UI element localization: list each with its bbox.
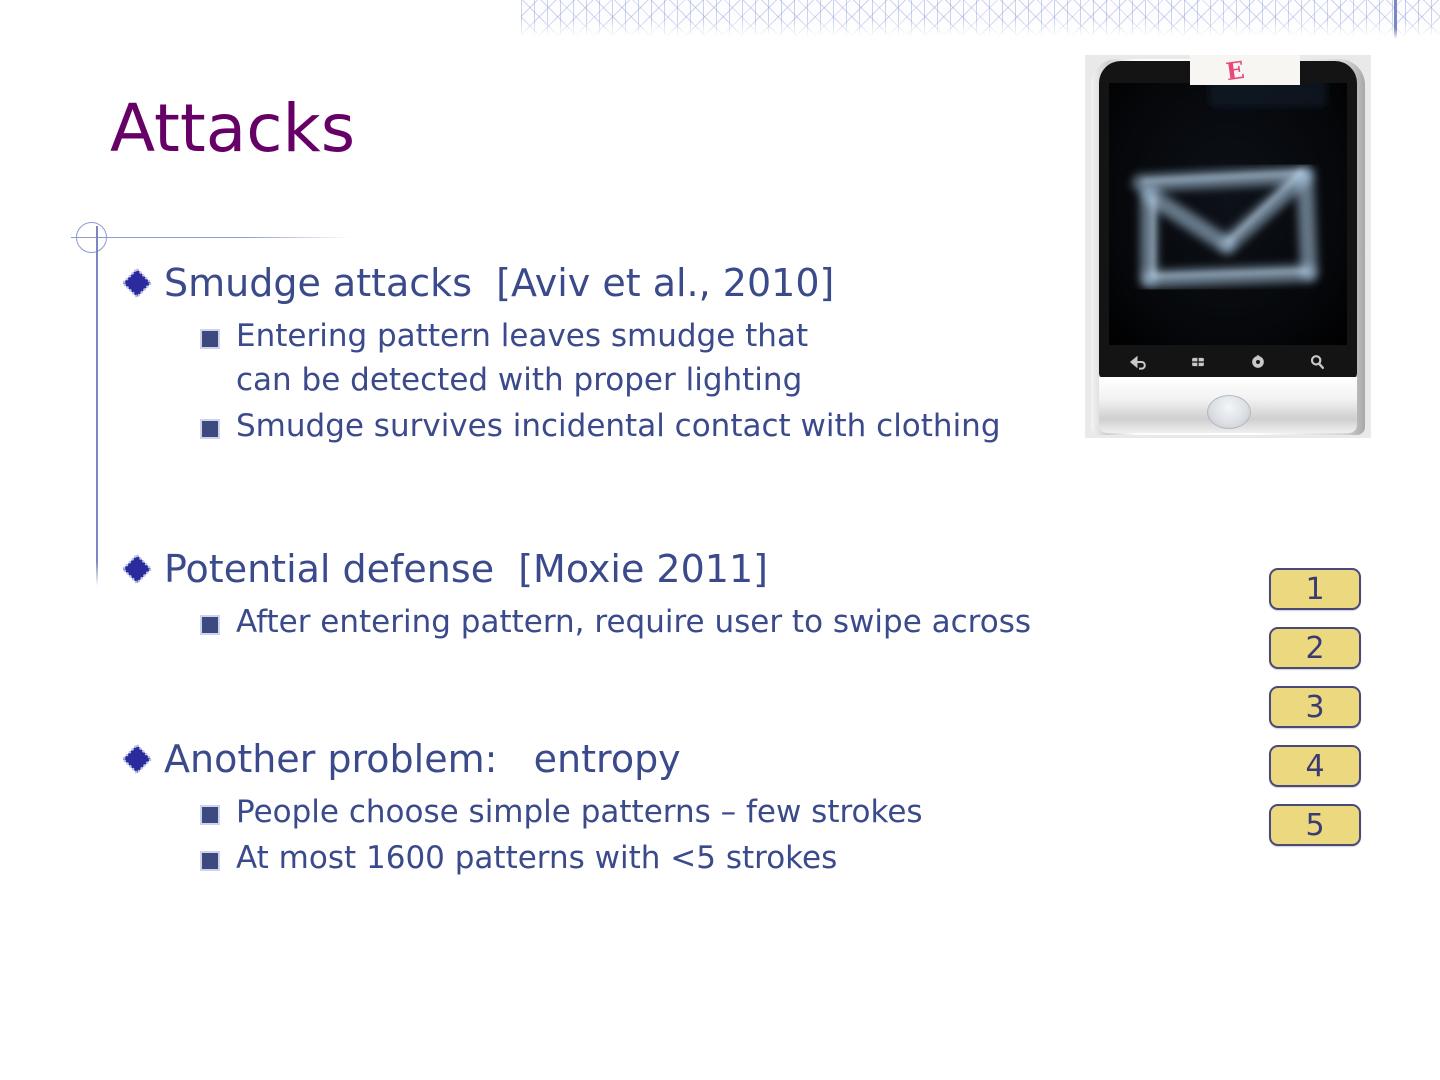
numbered-box[interactable]: 1 [1269, 568, 1361, 610]
square-bullet-icon [200, 851, 220, 871]
bullet-level2: At most 1600 patterns with <5 strokes [200, 836, 1302, 880]
top-band-accent-tick [1394, 0, 1397, 39]
bullet-level2: Entering pattern leaves smudge that can … [200, 314, 1302, 402]
square-bullet-icon [200, 329, 220, 349]
page-title: Attacks [110, 96, 355, 162]
top-hatch-band-fade [521, 0, 1440, 36]
slide-body: Smudge attacks [Aviv et al., 2010] Enter… [122, 258, 1302, 882]
bullet-level1: Another problem: entropy [122, 734, 1302, 784]
numbered-box[interactable]: 4 [1269, 745, 1361, 787]
bullet-group-smudge-attacks: Smudge attacks [Aviv et al., 2010] Enter… [122, 258, 1302, 448]
diamond-bullet-icon [122, 268, 152, 298]
bullet-level1: Potential defense [Moxie 2011] [122, 544, 1302, 594]
bullet-level1: Smudge attacks [Aviv et al., 2010] [122, 258, 1302, 308]
square-bullet-icon [200, 805, 220, 825]
bullet-level2-text: People choose simple patterns – few stro… [236, 790, 923, 834]
square-bullet-icon [200, 419, 220, 439]
bullet-level2-text: Smudge survives incidental contact with … [236, 404, 1001, 448]
decor-vertical-rule [96, 226, 98, 586]
bullet-group-potential-defense: Potential defense [Moxie 2011] After ent… [122, 544, 1302, 644]
bullet-level2: People choose simple patterns – few stro… [200, 790, 1302, 834]
diamond-bullet-icon [122, 554, 152, 584]
square-bullet-icon [200, 615, 220, 635]
numbered-box[interactable]: 3 [1269, 686, 1361, 728]
bullet-level2-text: At most 1600 patterns with <5 strokes [236, 836, 837, 880]
bullet-level1-text: Another problem: entropy [164, 734, 681, 784]
numbered-box-stack: 1 2 3 4 5 [1269, 568, 1361, 863]
bullet-level2: After entering pattern, require user to … [200, 600, 1302, 644]
decor-horizontal-rule [71, 237, 351, 238]
bullet-level1-text: Potential defense [Moxie 2011] [164, 544, 768, 594]
bullet-level2-text: Entering pattern leaves smudge that can … [236, 314, 808, 402]
bullet-level2: Smudge survives incidental contact with … [200, 404, 1302, 448]
numbered-box[interactable]: 5 [1269, 804, 1361, 846]
search-icon [1307, 352, 1327, 372]
bullet-group-another-problem: Another problem: entropy People choose s… [122, 734, 1302, 880]
tape-marking-text: E [1224, 55, 1246, 86]
numbered-box[interactable]: 2 [1269, 627, 1361, 669]
phone-tape-label: E [1190, 55, 1300, 85]
bullet-level1-text: Smudge attacks [Aviv et al., 2010] [164, 258, 834, 308]
diamond-bullet-icon [122, 744, 152, 774]
bullet-level2-text: After entering pattern, require user to … [236, 600, 1031, 644]
decor-circle-icon [76, 222, 107, 253]
